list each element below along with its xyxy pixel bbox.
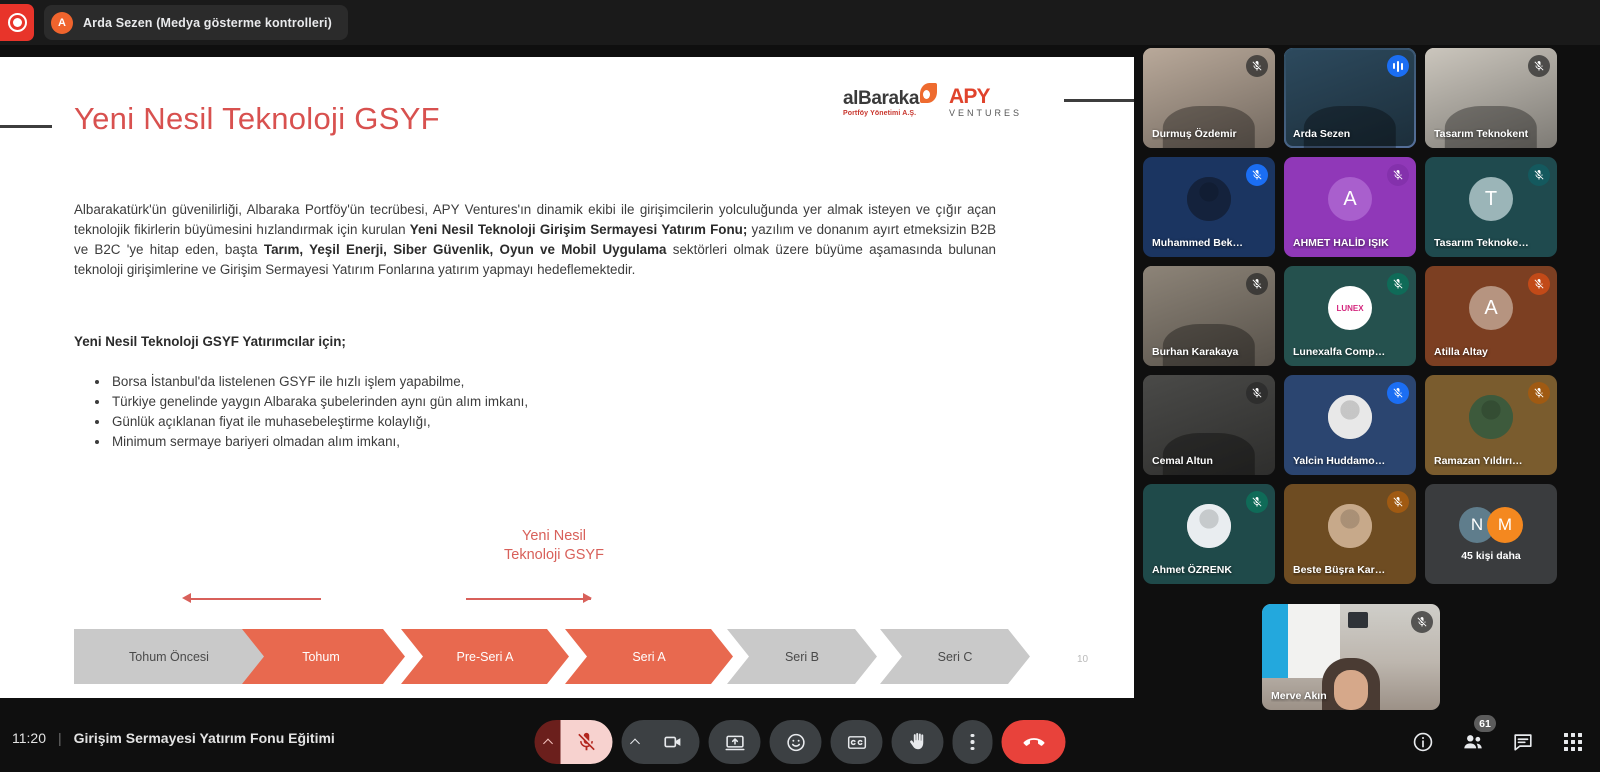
right-controls: 61 — [1410, 729, 1586, 755]
participant-tile[interactable]: TTasarım Teknokent Y... — [1425, 157, 1557, 257]
participant-tile[interactable]: Beste Büşra Karadağ — [1284, 484, 1416, 584]
mic-off-icon — [1246, 55, 1268, 77]
participant-name: Cemal Altun — [1152, 455, 1249, 467]
avatar — [1328, 395, 1372, 439]
mic-off-icon — [1528, 382, 1550, 404]
top-bar: A Arda Sezen (Medya gösterme kontrolleri… — [0, 0, 1600, 45]
list-item: Türkiye genelinde yaygın Albaraka şubele… — [110, 392, 794, 412]
microphone-toggle[interactable] — [561, 720, 613, 764]
call-controls — [535, 720, 1066, 764]
shared-slide[interactable]: Yeni Nesil Teknoloji GSYF alBaraka Portf… — [0, 57, 1134, 698]
list-item: Günlük açıklanan fiyat ile muhasebeleşti… — [110, 412, 794, 432]
funnel-stage: Seri C — [880, 629, 1030, 684]
apy-ventures-logo: APY VENTURES — [949, 87, 1022, 118]
camera-options-caret[interactable] — [622, 720, 648, 764]
chat-button[interactable] — [1510, 729, 1536, 755]
participant-name: Ahmet ÖZRENK — [1152, 564, 1249, 576]
funnel-stage-label: Tohum Öncesi — [129, 650, 209, 664]
self-view-tile[interactable]: Merve Akın — [1262, 604, 1440, 710]
funnel-stage-label: Seri C — [938, 650, 973, 664]
participant-name: AHMET HALİD IŞIK — [1293, 237, 1390, 249]
self-view-name: Merve Akın — [1271, 690, 1414, 702]
participant-tile[interactable]: Burhan Karakaya — [1143, 266, 1275, 366]
participant-name: Atilla Altay — [1434, 346, 1531, 358]
albaraka-logo-sub: Portföy Yönetimi A.Ş. — [843, 110, 919, 117]
presenter-chip[interactable]: A Arda Sezen (Medya gösterme kontrolleri… — [44, 5, 348, 40]
slide-bullet-list: Borsa İstanbul'da listelenen GSYF ile hı… — [94, 372, 794, 452]
meeting-window: A Arda Sezen (Medya gösterme kontrolleri… — [0, 0, 1600, 772]
bottom-bar: 11:20 | Girişim Sermayesi Yatırım Fonu E… — [0, 710, 1600, 772]
more-options-button[interactable] — [953, 720, 993, 764]
activities-button[interactable] — [1560, 729, 1586, 755]
participant-grid: Durmuş ÖzdemirArda SezenTasarım Teknoken… — [1143, 48, 1593, 593]
funnel-label-line1: Yeni Nesil — [474, 527, 634, 546]
mic-off-icon — [1246, 491, 1268, 513]
participant-name: Tasarım Teknokent — [1434, 128, 1531, 140]
slide-paragraph: Albarakatürk'ün güvenilirliği, Albaraka … — [74, 200, 996, 280]
participant-name: Burhan Karakaya — [1152, 346, 1249, 358]
title-rule — [0, 125, 52, 128]
funnel-arrow-right — [466, 598, 591, 600]
avatar — [1187, 504, 1231, 548]
record-indicator-icon[interactable] — [0, 4, 34, 41]
participant-name: Arda Sezen — [1293, 128, 1390, 140]
participant-row: Ahmet ÖZRENKBeste Büşra KaradağNM45 kişi… — [1143, 484, 1593, 584]
funnel-stage: Tohum Öncesi — [74, 629, 264, 684]
more-participants-tile[interactable]: NM45 kişi daha — [1425, 484, 1557, 584]
funnel-label-line2: Teknoloji GSYF — [474, 546, 634, 565]
avatar: M — [1487, 507, 1523, 543]
mic-off-icon — [1246, 164, 1268, 186]
participant-tile[interactable]: Tasarım Teknokent — [1425, 48, 1557, 148]
participant-row: Burhan KarakayaLUNEXLunexalfa CompanyAAt… — [1143, 266, 1593, 366]
participant-tile[interactable]: Muhammed Bekmez... — [1143, 157, 1275, 257]
funnel-stage-label: Tohum — [302, 650, 340, 664]
raise-hand-button[interactable] — [892, 720, 944, 764]
mic-off-icon — [1528, 164, 1550, 186]
company-logo: LUNEX — [1328, 286, 1372, 330]
participant-name: Ramazan Yıldırımkar... — [1434, 455, 1531, 467]
mic-off-icon — [1246, 273, 1268, 295]
funnel-stage: Seri B — [727, 629, 877, 684]
meeting-info: 11:20 | Girişim Sermayesi Yatırım Fonu E… — [12, 730, 335, 746]
participant-tile[interactable]: Ahmet ÖZRENK — [1143, 484, 1275, 584]
microphone-control-group — [535, 720, 613, 764]
funnel-label: Yeni Nesil Teknoloji GSYF — [474, 527, 634, 565]
slide-subheading: Yeni Nesil Teknoloji GSYF Yatırımcılar i… — [74, 334, 346, 349]
logo-group: alBaraka Portföy Yönetimi A.Ş. APY VENTU… — [843, 87, 1022, 118]
avatar: A — [1328, 177, 1372, 221]
mic-off-icon — [1387, 491, 1409, 513]
participant-tile[interactable]: Durmuş Özdemir — [1143, 48, 1275, 148]
participant-tile[interactable]: AAtilla Altay — [1425, 266, 1557, 366]
presenter-label: Arda Sezen (Medya gösterme kontrolleri) — [83, 16, 332, 30]
separator: | — [58, 730, 62, 746]
albaraka-logo: alBaraka Portföy Yönetimi A.Ş. — [843, 89, 919, 117]
participant-tile[interactable]: LUNEXLunexalfa Company — [1284, 266, 1416, 366]
meeting-details-button[interactable] — [1410, 729, 1436, 755]
leave-call-button[interactable] — [1002, 720, 1066, 764]
funnel-stage: Seri A — [565, 629, 733, 684]
logo-rule — [1064, 99, 1134, 102]
funnel-arrow-left — [186, 598, 321, 600]
participants-count-badge: 61 — [1474, 715, 1496, 732]
apy-logo-name: APY — [949, 87, 1022, 106]
list-item: Minimum sermaye bariyeri olmadan alım im… — [110, 432, 794, 452]
leaf-icon — [920, 83, 937, 103]
grid-apps-icon — [1564, 733, 1582, 751]
mic-off-icon — [1528, 273, 1550, 295]
funnel-stage-label: Pre-Seri A — [457, 650, 514, 664]
avatar — [1187, 177, 1231, 221]
participant-name: Beste Büşra Karadağ — [1293, 564, 1390, 576]
funnel-stage-label: Seri A — [632, 650, 665, 664]
participant-name: Yalcin Huddamoglu — [1293, 455, 1390, 467]
participant-tile[interactable]: Arda Sezen — [1284, 48, 1416, 148]
speaking-indicator-icon — [1387, 55, 1409, 77]
arrow-head-left-icon — [182, 593, 191, 603]
participant-tile[interactable]: AAHMET HALİD IŞIK — [1284, 157, 1416, 257]
chevron-up-icon — [543, 739, 553, 749]
funnel-stage-label: Seri B — [785, 650, 819, 664]
mic-off-icon — [1246, 382, 1268, 404]
participants-button[interactable]: 61 — [1460, 729, 1486, 755]
mic-off-icon — [1387, 382, 1409, 404]
clock: 11:20 — [12, 730, 46, 746]
albaraka-logo-name: alBaraka — [843, 89, 919, 108]
avatar — [1469, 395, 1513, 439]
avatar — [1328, 504, 1372, 548]
meeting-title: Girişim Sermayesi Yatırım Fonu Eğitimi — [74, 730, 335, 746]
participant-tile[interactable]: Ramazan Yıldırımkar... — [1425, 375, 1557, 475]
participant-row: Durmuş ÖzdemirArda SezenTasarım Teknoken… — [1143, 48, 1593, 148]
mic-off-icon — [1387, 273, 1409, 295]
participant-tile[interactable]: Cemal Altun — [1143, 375, 1275, 475]
camera-control-group — [622, 720, 700, 764]
list-item: Borsa İstanbul'da listelenen GSYF ile hı… — [110, 372, 794, 392]
participant-name: Durmuş Özdemir — [1152, 128, 1249, 140]
mic-off-icon — [1411, 611, 1433, 633]
overflow-avatars: NM — [1459, 507, 1523, 543]
apy-logo-sub: VENTURES — [949, 108, 1022, 118]
funnel-diagram: Yeni Nesil Teknoloji GSYF Tohum ÖncesiTo… — [74, 519, 1046, 684]
kebab-menu-icon — [971, 734, 975, 751]
funnel-stage: Pre-Seri A — [401, 629, 569, 684]
participant-tile[interactable]: Yalcin Huddamoglu — [1284, 375, 1416, 475]
participant-name: Tasarım Teknokent Y... — [1434, 237, 1531, 249]
avatar: A — [51, 12, 73, 34]
participant-name: Muhammed Bekmez... — [1152, 237, 1249, 249]
chevron-up-icon — [630, 739, 640, 749]
funnel-stages: Tohum ÖncesiTohumPre-Seri ASeri ASeri BS… — [74, 629, 1046, 684]
captions-button[interactable] — [831, 720, 883, 764]
camera-toggle[interactable] — [648, 720, 700, 764]
participant-row: Muhammed Bekmez...AAHMET HALİD IŞIKTTasa… — [1143, 157, 1593, 257]
more-participants-label: 45 kişi daha — [1461, 550, 1521, 562]
reactions-button[interactable] — [770, 720, 822, 764]
mic-off-icon — [1528, 55, 1550, 77]
slide-page-number: 10 — [1077, 654, 1088, 665]
participant-row: Cemal AltunYalcin HuddamogluRamazan Yıld… — [1143, 375, 1593, 475]
avatar: T — [1469, 177, 1513, 221]
page-title: Yeni Nesil Teknoloji GSYF — [74, 101, 440, 137]
mic-off-icon — [1387, 164, 1409, 186]
present-screen-button[interactable] — [709, 720, 761, 764]
mic-options-caret[interactable] — [535, 720, 561, 764]
avatar: A — [1469, 286, 1513, 330]
arrow-head-right-icon — [583, 593, 592, 603]
participant-name: Lunexalfa Company — [1293, 346, 1390, 358]
